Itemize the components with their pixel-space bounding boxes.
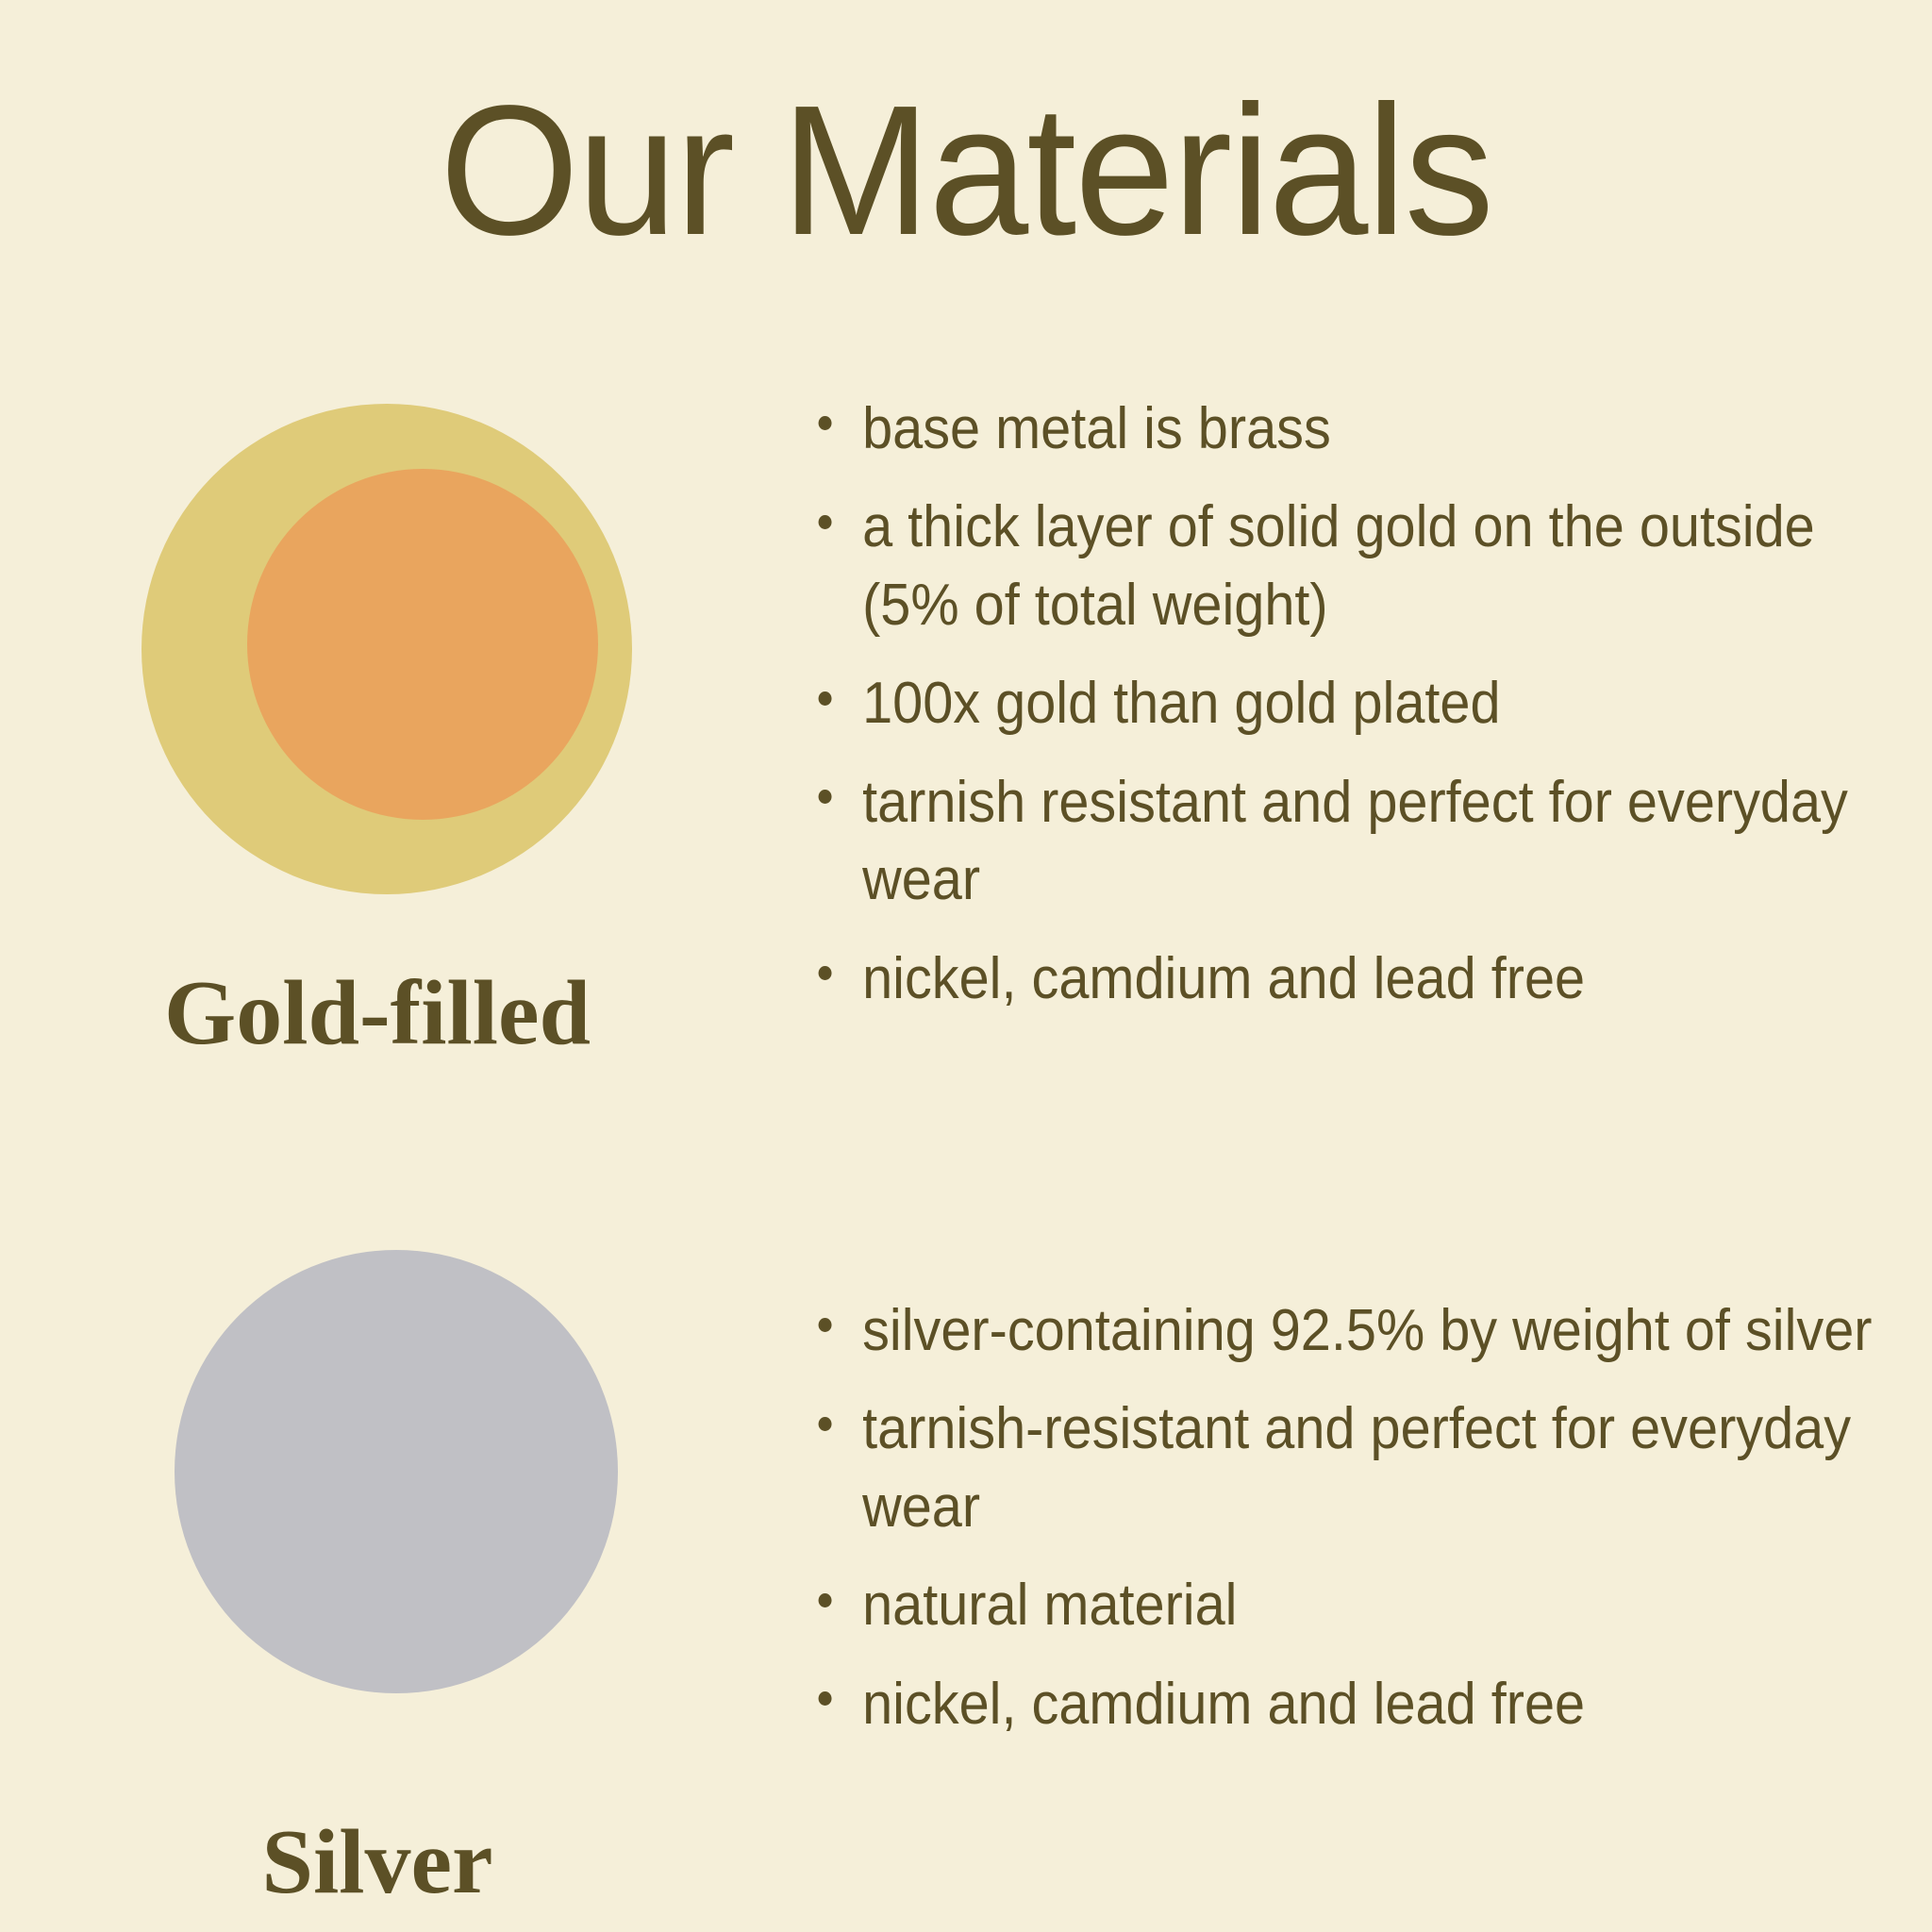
gold-filled-bullet-list: base metal is brass a thick layer of sol… [813,391,1919,1039]
bullet-dot-icon [819,1318,832,1332]
bullet-dot-icon [819,691,832,706]
list-item-text: a thick layer of solid gold on the outsi… [862,489,1919,644]
list-item: a thick layer of solid gold on the outsi… [813,489,1919,644]
list-item: natural material [813,1567,1919,1644]
list-item-text: tarnish-resistant and perfect for everyd… [862,1391,1919,1546]
list-item-text: silver-containing 92.5% by weight of sil… [862,1292,1919,1370]
list-item-text: 100x gold than gold plated [862,665,1919,742]
gold-filled-label: Gold-filled [47,967,708,1059]
list-item: base metal is brass [813,391,1919,468]
gold-inner-core-circle [247,469,598,820]
bullet-dot-icon [819,1417,832,1431]
list-item-text: base metal is brass [862,391,1919,468]
silver-label: Silver [47,1816,708,1908]
page-title: Our Materials [29,74,1904,268]
list-item: nickel, camdium and lead free [813,941,1919,1018]
list-item-text: nickel, camdium and lead free [862,1666,1919,1743]
list-item: tarnish-resistant and perfect for everyd… [813,1391,1919,1546]
bullet-dot-icon [819,1691,832,1706]
silver-bullet-list: silver-containing 92.5% by weight of sil… [813,1292,1919,1764]
list-item: nickel, camdium and lead free [813,1666,1919,1743]
list-item: tarnish resistant and perfect for everyd… [813,764,1919,920]
list-item: 100x gold than gold plated [813,665,1919,742]
list-item-text: natural material [862,1567,1919,1644]
materials-infographic: Our Materials Gold-filled base metal is … [0,0,1932,1932]
list-item: silver-containing 92.5% by weight of sil… [813,1292,1919,1370]
bullet-dot-icon [819,966,832,980]
list-item-text: tarnish resistant and perfect for everyd… [862,764,1919,920]
bullet-dot-icon [819,1593,832,1607]
bullet-dot-icon [819,790,832,804]
silver-circle [175,1250,618,1693]
bullet-dot-icon [819,416,832,430]
list-item-text: nickel, camdium and lead free [862,941,1919,1018]
bullet-dot-icon [819,515,832,529]
